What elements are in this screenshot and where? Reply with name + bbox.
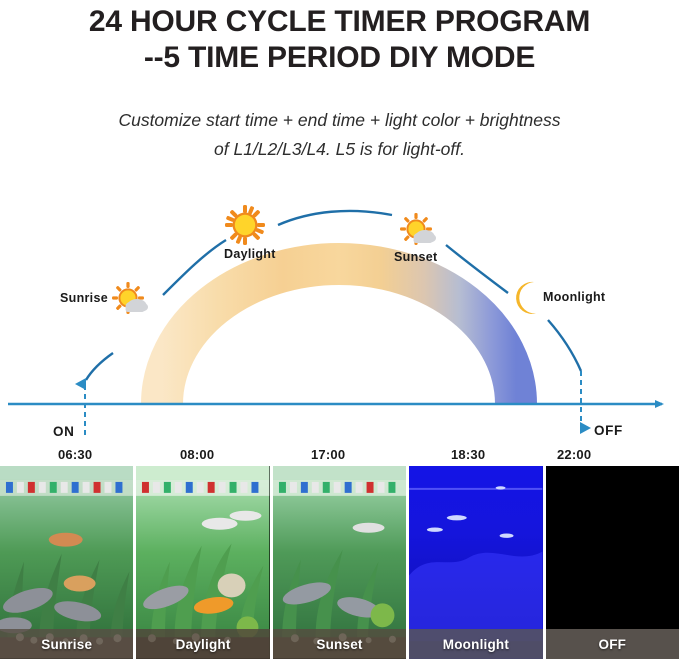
photo-panel-daylight: Daylight: [136, 466, 269, 659]
sun-behind-cloud-icon: [112, 282, 148, 314]
panel-caption-daylight: Daylight: [136, 629, 269, 659]
panel-caption-sunrise: Sunrise: [0, 629, 133, 659]
page-title: 24 HOUR CYCLE TIMER PROGRAM --5 TIME PER…: [0, 4, 679, 76]
photo-panel-sunrise: Sunrise: [0, 466, 133, 659]
sun-behind-cloud-icon: [400, 213, 436, 245]
connector-moonlight-down: [548, 320, 581, 371]
sun-icon: [225, 205, 265, 245]
subtitle-line-1: Customize start time + end time + light …: [0, 106, 679, 135]
timeline-on-label: ON: [53, 424, 74, 439]
connector-daylight-sunset: [278, 211, 392, 225]
stage-label-daylight: Daylight: [224, 247, 276, 261]
photo-panel-off: OFF: [546, 466, 679, 659]
timeline-time-0: 06:30: [58, 447, 92, 462]
day-cycle-diagram: Sunrise Daylight Sunset Moonlight ON OFF…: [0, 185, 679, 465]
diagram-svg: [0, 185, 679, 465]
timeline-time-3: 18:30: [451, 447, 485, 462]
aquarium-photo-strip: Sunrise: [0, 466, 679, 659]
timeline-time-1: 08:00: [180, 447, 214, 462]
timeline-time-4: 22:00: [557, 447, 591, 462]
panel-caption-off: OFF: [546, 629, 679, 659]
crescent-moon-icon: [516, 282, 536, 314]
stage-label-sunrise: Sunrise: [60, 291, 108, 305]
stage-label-sunset: Sunset: [394, 250, 437, 264]
timeline-off-label: OFF: [594, 423, 623, 438]
day-arc-band: [162, 264, 516, 404]
page-subtitle: Customize start time + end time + light …: [0, 106, 679, 164]
photo-panel-moonlight: Moonlight: [409, 466, 542, 659]
connector-sunrise-up: [86, 353, 113, 380]
panel-caption-sunset: Sunset: [273, 629, 406, 659]
timeline-time-2: 17:00: [311, 447, 345, 462]
title-line-1: 24 HOUR CYCLE TIMER PROGRAM: [0, 4, 679, 40]
title-line-2: --5 TIME PERIOD DIY MODE: [0, 40, 679, 76]
stage-label-moonlight: Moonlight: [543, 290, 605, 304]
photo-panel-sunset: Sunset: [273, 466, 406, 659]
subtitle-line-2: of L1/L2/L3/L4. L5 is for light-off.: [0, 135, 679, 164]
panel-caption-moonlight: Moonlight: [409, 629, 542, 659]
